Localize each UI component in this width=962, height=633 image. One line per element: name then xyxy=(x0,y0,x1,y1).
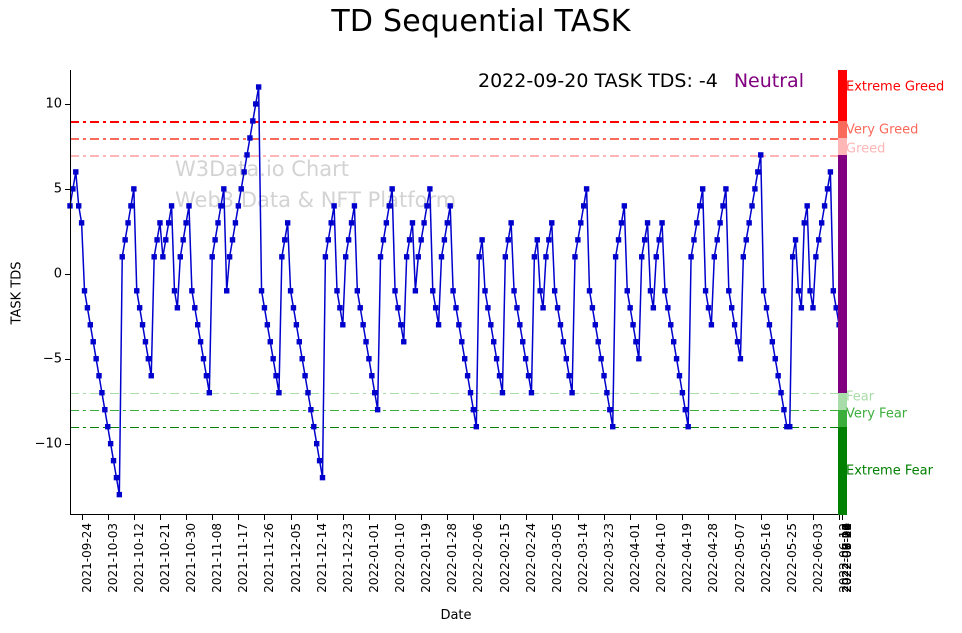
y-axis-label-text: TASK TDS xyxy=(10,261,25,324)
band-label-very-greed: Very Greed xyxy=(846,123,918,138)
band-label-extreme-greed: Extreme Greed xyxy=(846,79,944,94)
y-tick-label: 10 xyxy=(45,96,62,111)
x-tick-mark xyxy=(473,515,474,520)
x-tick-label: 2022-03-23 xyxy=(602,523,616,593)
x-tick-mark xyxy=(735,515,736,520)
x-tick-mark xyxy=(552,515,553,520)
x-tick-label: 2021-10-21 xyxy=(158,523,172,593)
x-tick-label: 2022-03-05 xyxy=(550,523,564,593)
colorbar-segment-neutral xyxy=(838,155,847,393)
page-title: TD Sequential TASK xyxy=(0,4,962,39)
x-tick-mark xyxy=(708,515,709,520)
x-tick-mark xyxy=(212,515,213,520)
x-tick-mark xyxy=(578,515,579,520)
x-tick-mark xyxy=(500,515,501,520)
x-tick-label: 2022-02-15 xyxy=(498,523,512,593)
x-tick-label: 2022-03-14 xyxy=(576,523,590,593)
x-tick-label: 2021-12-23 xyxy=(341,523,355,593)
y-tick-mark xyxy=(65,104,70,105)
x-tick-label: 2022-04-28 xyxy=(706,523,720,593)
x-tick-mark xyxy=(787,515,788,520)
y-axis-label: TASK TDS xyxy=(8,70,26,515)
x-tick-label: 2021-12-05 xyxy=(289,523,303,593)
x-tick-label: 2022-05-07 xyxy=(733,523,747,593)
y-tick-label: −5 xyxy=(43,351,62,366)
x-tick-label: 2022-01-28 xyxy=(445,523,459,593)
x-tick-mark xyxy=(317,515,318,520)
x-tick-mark xyxy=(238,515,239,520)
x-tick-mark xyxy=(421,515,422,520)
band-label-extreme-fear: Extreme Fear xyxy=(846,463,933,478)
x-tick-mark xyxy=(630,515,631,520)
x-tick-mark xyxy=(813,515,814,520)
x-tick-mark xyxy=(526,515,527,520)
x-tick-mark xyxy=(82,515,83,520)
x-tick-label: 2022-04-10 xyxy=(654,523,668,593)
x-tick-mark xyxy=(604,515,605,520)
band-label-very-fear: Very Fear xyxy=(846,406,907,421)
x-tick-label: 2022-04-19 xyxy=(680,523,694,593)
x-tick-label: 2021-11-17 xyxy=(236,523,250,593)
x-tick-mark xyxy=(395,515,396,520)
x-tick-label: 2021-12-14 xyxy=(315,523,329,593)
y-tick-mark xyxy=(65,359,70,360)
colorbar-segment-extreme-greed xyxy=(838,70,847,121)
x-tick-mark xyxy=(839,515,840,520)
x-tick-mark xyxy=(264,515,265,520)
y-tick-label: 0 xyxy=(54,266,62,281)
x-tick-mark xyxy=(447,515,448,520)
x-tick-mark xyxy=(343,515,344,520)
plot-area: W3Data.io Chart Web3 Data & NFT Platform… xyxy=(70,70,842,515)
x-tick-label: 2022-01-19 xyxy=(419,523,433,593)
x-tick-label: 2021-09-24 xyxy=(80,523,94,593)
x-axis-label: Date xyxy=(70,608,842,623)
x-tick-mark xyxy=(682,515,683,520)
x-tick-mark xyxy=(656,515,657,520)
y-tick-label: −10 xyxy=(35,436,62,451)
x-tick-label: 2022-01-10 xyxy=(393,523,407,593)
chart-root: TD Sequential TASK 2022-09-20 TASK TDS: … xyxy=(0,0,962,633)
plot-frame xyxy=(70,70,842,515)
y-tick-mark xyxy=(65,444,70,445)
x-tick-mark xyxy=(761,515,762,520)
y-tick-label: 5 xyxy=(54,181,62,196)
x-tick-label: 2022-02-24 xyxy=(524,523,538,593)
x-tick-label: 2021-10-12 xyxy=(132,523,146,593)
x-tick-mark xyxy=(186,515,187,520)
x-tick-label: 2022-05-16 xyxy=(759,523,773,593)
x-tick-label: 2021-11-08 xyxy=(210,523,224,593)
y-tick-mark xyxy=(65,274,70,275)
x-tick-label: 2022-02-06 xyxy=(471,523,485,593)
x-tick-mark xyxy=(842,515,843,520)
y-tick-mark xyxy=(65,189,70,190)
band-label-greed: Greed xyxy=(846,141,885,156)
x-tick-mark xyxy=(291,515,292,520)
x-tick-label: 2022-09-19 xyxy=(840,523,854,593)
x-tick-mark xyxy=(108,515,109,520)
x-tick-label: 2022-01-01 xyxy=(367,523,381,593)
x-tick-label: 2021-10-03 xyxy=(106,523,120,593)
x-tick-mark xyxy=(369,515,370,520)
band-label-fear: Fear xyxy=(846,389,874,404)
x-tick-mark xyxy=(160,515,161,520)
x-tick-label: 2021-10-30 xyxy=(184,523,198,593)
x-tick-label: 2022-05-25 xyxy=(785,523,799,593)
x-tick-label: 2022-04-01 xyxy=(628,523,642,593)
x-tick-label: 2022-06-03 xyxy=(811,523,825,593)
x-tick-mark xyxy=(134,515,135,520)
x-tick-label: 2021-11-26 xyxy=(262,523,276,593)
